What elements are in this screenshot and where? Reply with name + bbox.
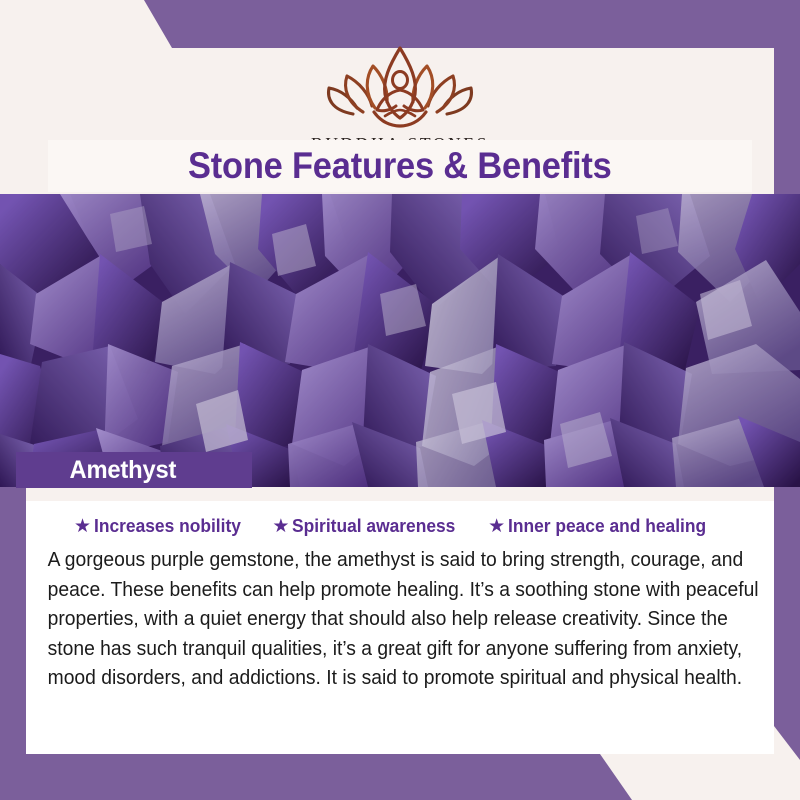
feature-label: Increases nobility (94, 515, 241, 537)
hero-image (0, 194, 800, 487)
frame-band-left (0, 482, 26, 800)
star-icon: ★ (74, 517, 91, 536)
frame-band-bottom (0, 754, 800, 800)
feature-item: ★ Increases nobility (74, 515, 250, 537)
content-panel: ★ Increases nobility ★ Spiritual awarene… (26, 501, 774, 754)
feature-label: Spiritual awareness (292, 515, 455, 537)
title-plate: Stone Features & Benefits (48, 140, 752, 192)
description-paragraph: A gorgeous purple gemstone, the amethyst… (40, 546, 773, 694)
page-title: Stone Features & Benefits (188, 145, 612, 187)
feature-label: Inner peace and healing (508, 515, 706, 537)
promo-card: BUDDHA STONES Stone Features & Benefits (0, 0, 800, 800)
lotus-meditation-icon (325, 40, 475, 132)
brand-logo: BUDDHA STONES (26, 40, 774, 155)
content-top-strip (26, 487, 774, 501)
amethyst-crystal-cluster-icon (0, 194, 800, 487)
header: BUDDHA STONES Stone Features & Benefits (26, 48, 774, 194)
stone-name-label: Amethyst (20, 456, 176, 485)
feature-item: ★ Spiritual awareness (272, 515, 466, 537)
feature-item: ★ Inner peace and healing (488, 515, 719, 537)
stone-name-badge: Amethyst (16, 452, 252, 488)
feature-list: ★ Increases nobility ★ Spiritual awarene… (40, 515, 754, 537)
star-icon: ★ (272, 517, 289, 536)
star-icon: ★ (488, 517, 505, 536)
